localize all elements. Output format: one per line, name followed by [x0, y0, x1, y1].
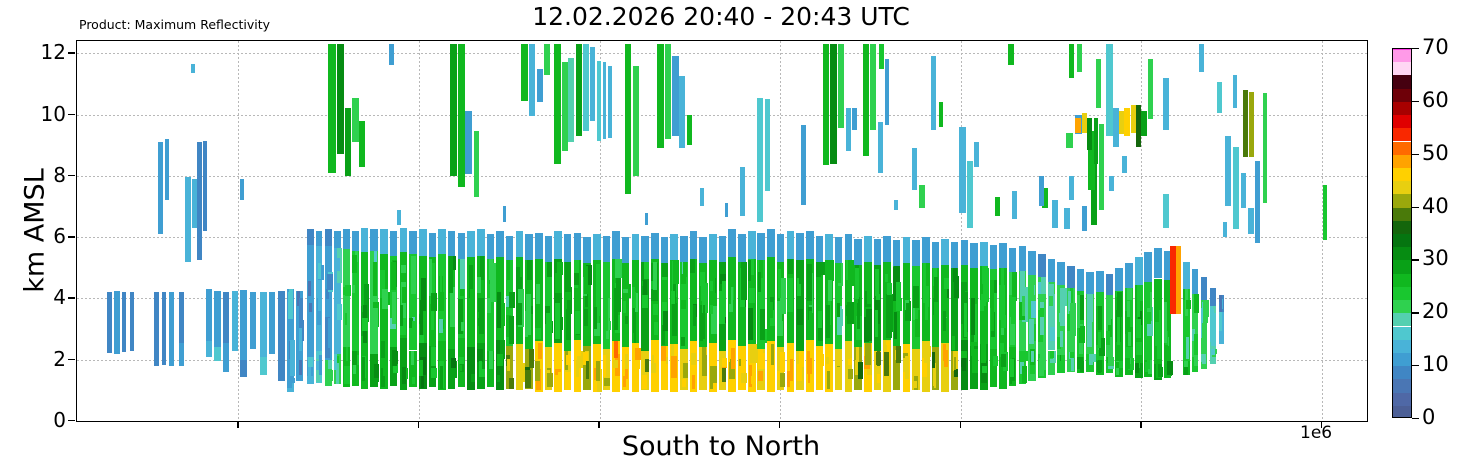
reflectivity-cell	[1147, 360, 1150, 369]
reflectivity-cell	[1099, 360, 1102, 371]
reflectivity-cell	[412, 377, 415, 384]
reflectivity-cell	[527, 260, 533, 280]
reflectivity-cell	[878, 122, 883, 173]
reflectivity-cell	[757, 233, 764, 261]
reflectivity-cell	[240, 360, 246, 377]
reflectivity-cell	[583, 237, 590, 263]
reflectivity-cell	[913, 356, 917, 369]
reflectivity-cell	[1080, 361, 1084, 372]
reflectivity-cell	[954, 357, 957, 370]
reflectivity-cell	[223, 343, 229, 372]
reflectivity-cell	[699, 237, 706, 263]
reflectivity-cell	[535, 233, 543, 259]
reflectivity-cell	[521, 44, 528, 101]
reflectivity-cell	[1127, 301, 1130, 317]
colorbar-band-52.5	[1393, 128, 1411, 141]
reflectivity-cell	[740, 167, 745, 216]
reflectivity-cell	[777, 234, 784, 262]
x-tick-mark-1	[418, 421, 419, 428]
reflectivity-cell	[179, 292, 184, 343]
reflectivity-cell	[1040, 302, 1044, 335]
reflectivity-cell	[741, 373, 747, 383]
reflectivity-cell	[654, 322, 658, 335]
reflectivity-cell	[867, 272, 872, 303]
colorbar-band-15	[1393, 327, 1411, 340]
reflectivity-cell	[593, 234, 601, 260]
reflectivity-cell	[837, 349, 840, 366]
reflectivity-cell	[848, 260, 854, 285]
reflectivity-cell	[288, 292, 294, 319]
reflectivity-cell	[623, 376, 625, 387]
reflectivity-cell	[912, 148, 917, 189]
reflectivity-cell	[1089, 354, 1093, 365]
reflectivity-cell	[529, 44, 535, 116]
reflectivity-cell	[1194, 334, 1198, 356]
colorbar[interactable]	[1392, 48, 1412, 418]
reflectivity-cell	[1009, 248, 1016, 273]
reflectivity-cell	[974, 142, 979, 167]
reflectivity-cell	[584, 266, 588, 294]
plot-area[interactable]	[76, 40, 1368, 422]
reflectivity-cell	[826, 357, 829, 364]
colorbar-tick-mark-60	[1412, 101, 1419, 102]
reflectivity-cell	[1136, 342, 1142, 355]
reflectivity-cell	[995, 197, 1000, 215]
reflectivity-cell	[826, 266, 832, 280]
reflectivity-cell	[318, 263, 321, 279]
reflectivity-cell	[597, 61, 601, 141]
reflectivity-cell	[941, 239, 949, 265]
reflectivity-cell	[479, 369, 485, 376]
reflectivity-cell	[576, 340, 580, 356]
y-tick-mark-8	[68, 175, 75, 176]
reflectivity-cell	[409, 231, 416, 254]
reflectivity-cell	[477, 349, 483, 362]
reflectivity-cell	[1199, 44, 1204, 72]
reflectivity-cell	[886, 309, 892, 338]
reflectivity-cell	[1087, 309, 1092, 347]
colorbar-tick-label-10: 10	[1422, 354, 1449, 375]
reflectivity-cell	[299, 298, 302, 328]
reflectivity-cell	[594, 307, 597, 330]
reflectivity-cell	[1243, 90, 1248, 157]
reflectivity-cell	[470, 289, 475, 303]
reflectivity-cell	[863, 44, 869, 156]
reflectivity-cell	[535, 304, 541, 328]
reflectivity-cell	[1255, 161, 1260, 244]
reflectivity-cell	[691, 353, 697, 365]
reflectivity-cell	[345, 313, 348, 326]
reflectivity-cell	[465, 111, 471, 174]
colorbar-band-17.5	[1393, 313, 1411, 326]
colorbar-band-40	[1393, 194, 1411, 207]
reflectivity-cell	[852, 108, 857, 129]
reflectivity-cell	[401, 265, 406, 273]
reflectivity-cell	[1069, 176, 1074, 201]
reflectivity-cell	[380, 229, 388, 254]
reflectivity-cell	[537, 69, 543, 103]
reflectivity-cell	[1211, 349, 1215, 355]
reflectivity-cell	[1135, 363, 1139, 373]
reflectivity-cell	[555, 273, 562, 293]
reflectivity-cell	[787, 379, 790, 387]
colorbar-band-2.5	[1393, 393, 1411, 406]
reflectivity-cell	[690, 231, 698, 259]
reflectivity-cell	[943, 311, 946, 330]
reflectivity-cell	[1048, 284, 1053, 296]
reflectivity-cell	[197, 142, 202, 260]
reflectivity-cell	[632, 234, 640, 260]
reflectivity-cell	[318, 285, 323, 310]
reflectivity-cell	[922, 237, 930, 263]
reflectivity-cell	[503, 206, 507, 221]
reflectivity-cell	[951, 242, 958, 268]
reflectivity-cell	[837, 263, 842, 283]
reflectivity-cell	[1194, 357, 1197, 365]
reflectivity-cell	[614, 341, 618, 357]
x-tick-mark-0	[237, 421, 238, 428]
colorbar-band-12.5	[1393, 340, 1411, 353]
reflectivity-cell	[1106, 331, 1110, 345]
reflectivity-cell	[206, 341, 212, 356]
colorbar-band-25	[1393, 274, 1411, 287]
reflectivity-cell	[683, 363, 688, 378]
reflectivity-cell	[1008, 44, 1013, 65]
reflectivity-cell	[823, 44, 829, 165]
reflectivity-cell	[725, 203, 729, 217]
reflectivity-cell	[1119, 361, 1123, 367]
reflectivity-cell	[741, 262, 747, 301]
reflectivity-cell	[799, 260, 804, 284]
reflectivity-cell	[826, 305, 830, 338]
reflectivity-cell	[1098, 306, 1102, 330]
colorbar-tick-mark-0	[1412, 418, 1419, 419]
reflectivity-cell	[431, 293, 437, 311]
reflectivity-cell	[158, 142, 163, 234]
reflectivity-cell	[894, 312, 897, 338]
reflectivity-cell	[741, 310, 744, 339]
reflectivity-cell	[299, 327, 302, 351]
reflectivity-cell	[967, 161, 973, 228]
reflectivity-cell	[883, 236, 891, 262]
reflectivity-cell	[299, 360, 302, 375]
reflectivity-cell	[1113, 108, 1119, 146]
reflectivity-cell	[971, 334, 974, 342]
reflectivity-cell	[710, 291, 714, 305]
reflectivity-cell	[1263, 93, 1267, 203]
reflectivity-cell	[1223, 222, 1227, 237]
reflectivity-cell	[623, 301, 626, 313]
reflectivity-cell	[954, 369, 958, 377]
reflectivity-cell	[885, 59, 890, 125]
colorbar-tick-mark-30	[1412, 259, 1419, 260]
reflectivity-cell	[240, 179, 244, 200]
reflectivity-cell	[1163, 78, 1169, 130]
reflectivity-cell	[990, 245, 997, 270]
reflectivity-cell	[710, 366, 713, 374]
reflectivity-cell	[932, 242, 939, 268]
reflectivity-cell	[345, 108, 351, 175]
reflectivity-cell	[1067, 266, 1074, 287]
reflectivity-cell	[807, 358, 813, 373]
reflectivity-cell	[765, 99, 771, 191]
reflectivity-cell	[622, 237, 629, 263]
colorbar-band-32.5	[1393, 234, 1411, 247]
reflectivity-cell	[806, 231, 814, 259]
reflectivity-cell	[525, 311, 528, 337]
reflectivity-cell	[680, 236, 687, 262]
reflectivity-cell	[1066, 133, 1072, 148]
reflectivity-cell	[346, 347, 348, 360]
y-tick-mark-10	[68, 114, 75, 115]
gridline-y-0	[77, 421, 1367, 422]
reflectivity-cell	[555, 303, 560, 338]
reflectivity-cell	[420, 300, 423, 335]
reflectivity-cell	[981, 294, 986, 306]
reflectivity-cell	[1144, 252, 1151, 281]
reflectivity-cell	[731, 348, 736, 369]
reflectivity-cell	[672, 303, 677, 336]
reflectivity-cell	[961, 351, 967, 358]
reflectivity-cell	[670, 234, 678, 260]
reflectivity-cell	[1219, 312, 1222, 331]
colorbar-band-7.5	[1393, 366, 1411, 379]
reflectivity-cell	[458, 44, 465, 187]
reflectivity-cell	[625, 316, 628, 324]
reflectivity-cell	[1183, 262, 1190, 290]
reflectivity-cell	[1082, 206, 1087, 231]
colorbar-tick-mark-70	[1412, 48, 1419, 49]
reflectivity-cell	[518, 371, 522, 385]
colorbar-tick-mark-10	[1412, 365, 1419, 366]
reflectivity-cell	[1157, 337, 1161, 359]
reflectivity-cell	[509, 378, 514, 389]
reflectivity-cell	[1109, 176, 1114, 191]
colorbar-band-27.5	[1393, 260, 1411, 273]
reflectivity-cell	[877, 374, 880, 383]
reflectivity-cell	[1163, 194, 1168, 228]
colorbar-band-57.5	[1393, 102, 1411, 115]
reflectivity-cell	[390, 231, 397, 256]
reflectivity-cell	[1194, 294, 1199, 313]
reflectivity-cell	[309, 255, 313, 284]
reflectivity-cell	[316, 246, 319, 262]
reflectivity-cell	[673, 260, 679, 284]
reflectivity-cell	[359, 121, 365, 167]
colorbar-tick-label-50: 50	[1422, 143, 1449, 164]
x-tick-mark-6	[1321, 421, 1322, 428]
reflectivity-cell	[185, 177, 190, 261]
reflectivity-cell	[780, 352, 785, 372]
reflectivity-cell	[797, 364, 802, 380]
reflectivity-cell	[1094, 118, 1099, 164]
reflectivity-cell	[1127, 288, 1132, 300]
reflectivity-cell	[535, 361, 540, 381]
reflectivity-cell	[478, 298, 483, 312]
y-tick-mark-0	[68, 420, 75, 421]
y-axis-label: km AMSL	[20, 91, 51, 371]
reflectivity-cell	[179, 343, 184, 366]
reflectivity-cell	[1106, 274, 1113, 295]
reflectivity-cell	[827, 371, 830, 389]
reflectivity-cell	[608, 66, 611, 138]
reflectivity-cell	[926, 346, 931, 357]
reflectivity-cell	[1176, 246, 1181, 313]
reflectivity-cell	[477, 229, 485, 255]
reflectivity-cell	[728, 229, 736, 257]
reflectivity-cell	[633, 378, 637, 389]
reflectivity-cell	[352, 231, 359, 251]
reflectivity-cell	[1202, 323, 1207, 341]
reflectivity-cell	[895, 373, 898, 387]
reflectivity-cell	[529, 349, 534, 369]
reflectivity-cell	[458, 233, 466, 259]
reflectivity-cell	[971, 298, 975, 335]
reflectivity-cell	[722, 358, 727, 367]
reflectivity-cell	[1082, 113, 1087, 133]
reflectivity-cell	[622, 277, 628, 289]
colorbar-band-55	[1393, 115, 1411, 128]
colorbar-tick-label-60: 60	[1422, 90, 1449, 111]
reflectivity-cell	[1128, 332, 1131, 346]
reflectivity-cell	[1012, 191, 1017, 219]
reflectivity-cell	[1233, 147, 1239, 230]
reflectivity-cell	[460, 259, 465, 289]
reflectivity-cell	[431, 368, 437, 378]
reflectivity-cell	[1001, 354, 1007, 367]
reflectivity-cell	[536, 259, 540, 281]
reflectivity-cell	[1098, 332, 1101, 348]
reflectivity-cell	[644, 262, 650, 279]
reflectivity-cell	[362, 357, 365, 380]
x-tick-mark-3	[779, 421, 780, 428]
x-tick-mark-4	[960, 421, 961, 428]
reflectivity-cell	[682, 379, 686, 387]
reflectivity-cell	[1136, 319, 1141, 338]
reflectivity-cell	[612, 231, 620, 259]
reflectivity-cell	[614, 288, 618, 329]
reflectivity-cell	[982, 266, 987, 284]
reflectivity-cell	[864, 317, 868, 341]
reflectivity-cell	[392, 292, 396, 324]
reflectivity-cell	[1077, 295, 1080, 328]
reflectivity-cell	[700, 188, 704, 206]
reflectivity-cell	[854, 239, 861, 265]
reflectivity-cell	[439, 319, 444, 333]
reflectivity-cell	[838, 44, 844, 128]
reflectivity-cell	[683, 262, 688, 277]
y-tick-mark-12	[68, 52, 75, 53]
reflectivity-cell	[1011, 297, 1016, 324]
reflectivity-cell	[206, 289, 212, 341]
reflectivity-cell	[307, 229, 314, 244]
reflectivity-cell	[584, 309, 587, 326]
reflectivity-cell	[1210, 288, 1216, 306]
colorbar-band-5	[1393, 379, 1411, 392]
reflectivity-cell	[934, 277, 938, 302]
reflectivity-cell	[402, 367, 407, 384]
reflectivity-cell	[1225, 136, 1231, 206]
reflectivity-cell	[1070, 352, 1075, 358]
reflectivity-cell	[516, 231, 524, 257]
colorbar-tick-label-0: 0	[1422, 407, 1435, 428]
colorbar-tick-label-30: 30	[1422, 248, 1449, 269]
reflectivity-cell	[319, 355, 322, 375]
reflectivity-cell	[1141, 111, 1146, 136]
reflectivity-cell	[516, 267, 521, 285]
reflectivity-cell	[1192, 313, 1196, 326]
reflectivity-cell	[855, 268, 859, 299]
reflectivity-cell	[961, 282, 967, 291]
reflectivity-cell	[497, 263, 501, 284]
reflectivity-cell	[671, 291, 675, 305]
colorbar-band-0	[1393, 406, 1411, 418]
reflectivity-cell	[451, 358, 456, 368]
reflectivity-cell	[692, 375, 695, 390]
reflectivity-cell	[429, 233, 436, 258]
reflectivity-cell	[1136, 105, 1141, 146]
reflectivity-cell	[479, 308, 484, 334]
reflectivity-cell	[336, 258, 340, 271]
reflectivity-cell	[1099, 124, 1104, 210]
reflectivity-cell	[480, 256, 484, 280]
reflectivity-cell	[896, 346, 901, 363]
reflectivity-cell	[848, 369, 854, 379]
reflectivity-cell	[604, 274, 609, 283]
reflectivity-cell	[944, 278, 949, 289]
reflectivity-cell	[438, 229, 446, 254]
reflectivity-cell	[506, 296, 509, 307]
reflectivity-cell	[722, 281, 726, 316]
reflectivity-cell	[507, 260, 510, 280]
reflectivity-cell	[497, 292, 502, 329]
reflectivity-cell	[575, 311, 580, 334]
reflectivity-cell	[835, 237, 842, 263]
reflectivity-cell	[961, 240, 969, 265]
x-tick-mark-2	[598, 421, 599, 428]
reflectivity-cell	[214, 347, 220, 361]
reflectivity-cell	[767, 309, 773, 318]
reflectivity-cell	[421, 376, 424, 388]
reflectivity-cell	[662, 263, 668, 277]
colorbar-band-37.5	[1393, 208, 1411, 221]
reflectivity-cell	[362, 318, 368, 331]
reflectivity-cell	[603, 62, 607, 139]
reflectivity-cell	[250, 292, 256, 349]
reflectivity-cell	[788, 259, 793, 274]
reflectivity-cell	[389, 44, 394, 65]
reflectivity-cell	[944, 350, 948, 367]
reflectivity-cell	[1061, 355, 1065, 363]
reflectivity-cell	[594, 368, 597, 380]
reflectivity-cell	[431, 347, 436, 366]
reflectivity-cell	[154, 292, 159, 366]
colorbar-band-62.5	[1393, 75, 1411, 88]
reflectivity-cell	[400, 228, 408, 253]
reflectivity-cell	[875, 269, 879, 296]
reflectivity-cell	[760, 313, 763, 324]
reflectivity-cell	[232, 291, 238, 351]
reflectivity-cell	[1009, 272, 1012, 294]
reflectivity-cell	[884, 352, 890, 376]
reflectivity-cell	[625, 354, 628, 369]
reflectivity-cell	[328, 318, 332, 348]
reflectivity-cell	[223, 292, 229, 343]
reflectivity-cell	[574, 260, 579, 273]
colorbar-tick-label-70: 70	[1422, 37, 1449, 58]
reflectivity-cell	[1019, 246, 1027, 271]
reflectivity-cell	[870, 44, 876, 130]
